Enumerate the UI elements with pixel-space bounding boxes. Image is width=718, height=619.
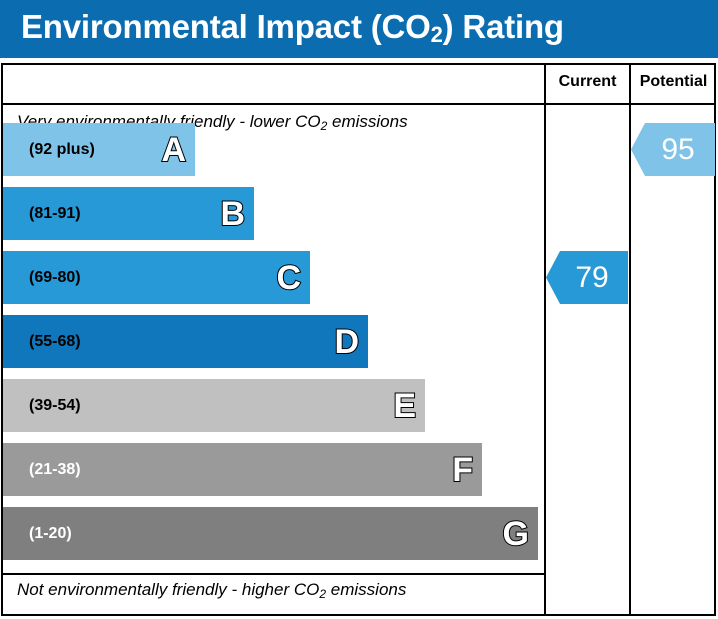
band-range-c: (69-80) [29, 269, 81, 287]
rating-band-e: (39-54) E [3, 379, 425, 432]
band-letter-f: F [452, 453, 473, 487]
caption-bottom-subscript: 2 [319, 587, 326, 601]
caption-bottom: Not environmentally friendly - higher CO… [17, 580, 406, 600]
band-range-e: (39-54) [29, 397, 81, 415]
potential-rating-marker: 95 [631, 123, 715, 176]
bottom-caption-divider [3, 573, 544, 575]
band-range-b: (81-91) [29, 205, 81, 223]
rating-band-b: (81-91) B [3, 187, 254, 240]
rating-band-d: (55-68) D [3, 315, 368, 368]
rating-bands: (92 plus) A (81-91) B (69-80) C (55-68) … [3, 65, 544, 614]
caption-bottom-suffix: emissions [326, 580, 406, 599]
column-header-current: Current [546, 73, 629, 91]
rating-band-c: (69-80) C [3, 251, 310, 304]
band-letter-a: A [161, 133, 186, 167]
band-letter-g: G [503, 517, 529, 551]
page-title-prefix: Environmental Impact (CO [21, 8, 431, 45]
band-range-g: (1-20) [29, 525, 72, 543]
environmental-impact-rating-chart: Environmental Impact (CO2) Rating Curren… [0, 0, 718, 619]
current-rating-value: 79 [565, 263, 608, 293]
potential-rating-value: 95 [651, 135, 694, 165]
current-rating-marker: 79 [546, 251, 628, 304]
band-range-a: (92 plus) [29, 141, 95, 159]
band-letter-e: E [393, 389, 416, 423]
band-range-f: (21-38) [29, 461, 81, 479]
column-header-potential: Potential [631, 73, 716, 91]
band-range-d: (55-68) [29, 333, 81, 351]
column-divider-current [544, 65, 546, 614]
caption-bottom-prefix: Not environmentally friendly - higher CO [17, 580, 319, 599]
band-letter-c: C [276, 261, 301, 295]
rating-band-a: (92 plus) A [3, 123, 195, 176]
page-title-suffix: ) Rating [443, 8, 564, 45]
rating-band-g: (1-20) G [3, 507, 538, 560]
column-divider-potential [629, 65, 631, 614]
band-letter-b: B [220, 197, 245, 231]
rating-table: Current Potential Very environmentally f… [1, 63, 716, 616]
page-title-subscript: 2 [431, 22, 443, 47]
chart-title-bar: Environmental Impact (CO2) Rating [0, 0, 718, 58]
band-letter-d: D [334, 325, 359, 359]
page-title: Environmental Impact (CO2) Rating [21, 8, 564, 46]
rating-band-f: (21-38) F [3, 443, 482, 496]
